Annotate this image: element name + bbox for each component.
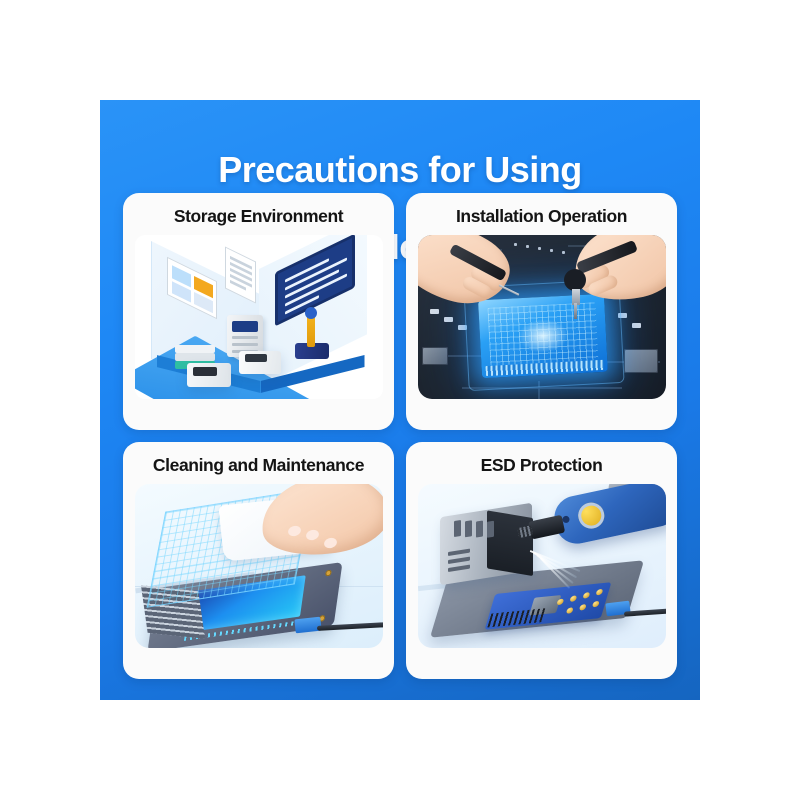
illustration-isometric-storage-room — [135, 235, 383, 399]
card-title-esd-protection: ESD Protection — [481, 455, 603, 476]
page-title-line-1: Precautions for Using — [218, 149, 582, 190]
equipment-box-back — [239, 351, 281, 374]
card-installation-operation[interactable]: Installation Operation — [406, 193, 677, 430]
illustration-hands-installing-lcd-module — [418, 235, 666, 399]
esd-unit-housing — [440, 503, 532, 586]
lamp-head — [305, 307, 317, 319]
card-title-storage-environment: Storage Environment — [174, 206, 343, 227]
ionizer-gun-nozzle — [528, 515, 565, 540]
lamp-pole — [307, 315, 315, 347]
glowing-lcd-module — [478, 294, 608, 378]
poster-panel: Precautions for Using LCD Modules Storag… — [100, 100, 700, 700]
card-title-cleaning-and-maintenance: Cleaning and Maintenance — [153, 455, 364, 476]
usb-connector — [294, 617, 321, 634]
card-esd-protection[interactable]: ESD Protection — [406, 442, 677, 679]
card-grid: Storage Environment — [123, 193, 677, 679]
card-storage-environment[interactable]: Storage Environment — [123, 193, 394, 430]
card-title-installation-operation: Installation Operation — [456, 206, 627, 227]
card-cleaning-and-maintenance[interactable]: Cleaning and Maintenance — [123, 442, 394, 679]
ionizer-gun-button — [575, 500, 606, 531]
ionizer-gun-body — [550, 484, 666, 548]
illustration-esd-ionizer-gun — [418, 484, 666, 648]
equipment-box-front — [187, 363, 231, 387]
illustration-hand-wiping-lcd-module — [135, 484, 383, 648]
